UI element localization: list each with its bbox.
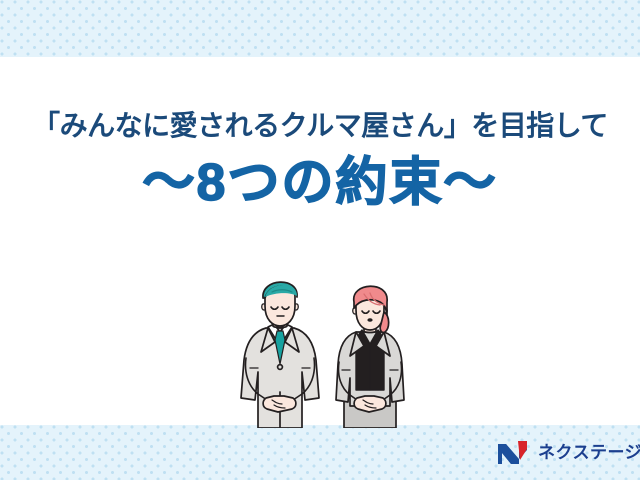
staff-illustration-svg	[228, 268, 418, 428]
dotted-band-top	[0, 0, 640, 57]
logo-wordmark: ネクステージ	[538, 444, 640, 461]
nextage-logo: ネクステージ	[497, 440, 640, 465]
female-staff-figure	[336, 286, 404, 428]
promo-banner: 「みんなに愛されるクルマ屋さん」を目指して 〜8つの約束〜	[0, 0, 640, 480]
banner-subtitle: 「みんなに愛されるクルマ屋さん」を目指して	[0, 108, 640, 143]
headline-block: 「みんなに愛されるクルマ屋さん」を目指して 〜8つの約束〜	[0, 108, 640, 212]
banner-title: 〜8つの約束〜	[0, 155, 640, 212]
male-staff-figure	[241, 282, 319, 428]
two-staff-bowing-illustration	[228, 268, 418, 428]
n-mark-icon	[497, 440, 531, 465]
